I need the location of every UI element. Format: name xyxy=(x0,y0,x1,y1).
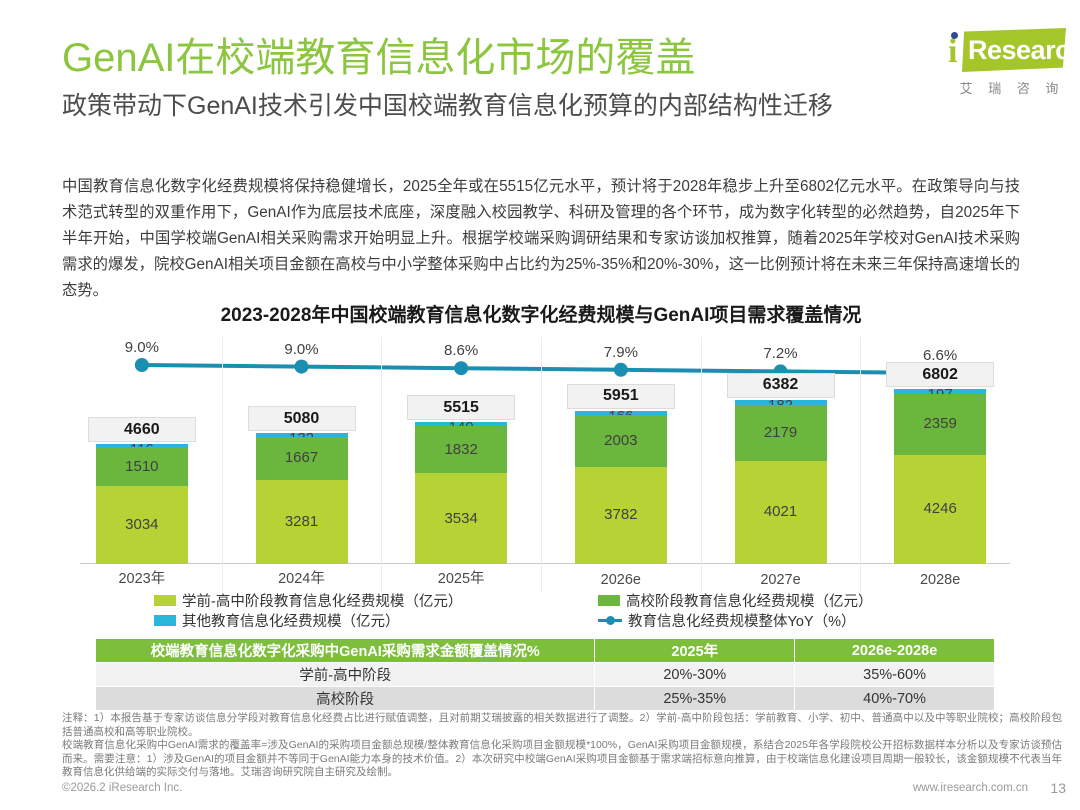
table-cell: 25%-35% xyxy=(595,687,795,711)
table-row: 高校阶段 25%-35% 40%-70% xyxy=(96,687,995,711)
chart-segment-value: 4246 xyxy=(894,500,986,517)
chart-total-label: 6802 xyxy=(886,362,994,387)
legend-swatch-icon xyxy=(598,595,620,606)
legend-item[interactable]: 学前-高中阶段教育信息化经费规模（亿元） xyxy=(154,590,462,611)
chart-segment-value: 4021 xyxy=(735,503,827,520)
chart-bar-group[interactable]: 16620033782 xyxy=(575,411,667,564)
chart-bar-segment[interactable]: 3782 xyxy=(575,467,667,564)
chart-bar-segment[interactable]: 1832 xyxy=(415,426,507,473)
table-cell: 35%-60% xyxy=(795,663,995,687)
chart-x-label: 2024年 xyxy=(242,567,362,588)
coverage-table: 校端教育信息化数字化采购中GenAI采购需求金额覆盖情况% 2025年 2026… xyxy=(95,638,995,711)
footer-url: www.iresearch.com.cn xyxy=(913,782,1028,794)
chart-bar-group[interactable]: 19723594246 xyxy=(894,389,986,564)
chart-total-label: 6382 xyxy=(727,373,835,398)
page-subtitle: 政策带动下GenAI技术引发中国校端教育信息化预算的内部结构性迁移 xyxy=(62,90,1022,122)
legend-line-icon xyxy=(598,615,622,626)
legend-label: 高校阶段教育信息化经费规模（亿元） xyxy=(626,590,873,611)
page-header: GenAI在校端教育信息化市场的覆盖 政策带动下GenAI技术引发中国校端教育信… xyxy=(62,34,1022,122)
chart-axis-line xyxy=(80,563,1010,564)
logo-letter-i: i xyxy=(948,35,957,69)
chart-segment-value: 1667 xyxy=(256,449,348,466)
chart-bar-segment[interactable]: 3281 xyxy=(256,480,348,564)
chart-yoy-label: 9.0% xyxy=(267,341,337,358)
chart-bar-segment[interactable]: 3034 xyxy=(96,486,188,564)
chart-x-label: 2028e xyxy=(880,572,1000,588)
chart-gridline xyxy=(860,337,861,592)
chart-yoy-label: 9.0% xyxy=(107,339,177,356)
chart-gridline xyxy=(222,337,223,592)
footer-page-number: 13 xyxy=(1050,780,1066,796)
table-header-cell: 2026e-2028e xyxy=(795,639,995,663)
chart-yoy-label: 6.6% xyxy=(905,347,975,364)
chart-yoy-label: 8.6% xyxy=(426,342,496,359)
chart-yoy-label: 7.2% xyxy=(746,345,816,362)
footnote-line: 校端教育信息化采购中GenAI需求的覆盖率=涉及GenAI的采购项目金额总规模/… xyxy=(62,739,1062,780)
chart-plot-area: 1161510303446602023年1321667328150802024年… xyxy=(62,337,1020,592)
footnotes: 注释：1）本报告基于专家访谈信息分学段对教育信息化经费占比进行赋值调整，且对前期… xyxy=(62,712,1062,780)
chart-total-label: 5080 xyxy=(248,406,356,431)
chart-bar-group[interactable]: 13216673281 xyxy=(256,433,348,564)
chart-container: 2023-2028年中国校端教育信息化数字化经费规模与GenAI项目需求覆盖情况… xyxy=(62,300,1020,630)
chart-bar-group[interactable]: 14918323534 xyxy=(415,422,507,564)
chart-bar-segment[interactable]: 1510 xyxy=(96,447,188,486)
chart-bar-segment[interactable]: 4021 xyxy=(735,461,827,564)
table-cell: 高校阶段 xyxy=(96,687,595,711)
chart-total-label: 5515 xyxy=(407,395,515,420)
table-header-cell: 校端教育信息化数字化采购中GenAI采购需求金额覆盖情况% xyxy=(96,639,595,663)
chart-segment-value: 3782 xyxy=(575,506,667,523)
chart-gridline xyxy=(381,337,382,592)
chart-bar-segment[interactable]: 4246 xyxy=(894,455,986,564)
logo-chinese-name: 艾 瑞 咨 询 xyxy=(958,78,1066,97)
table-header-cell: 2025年 xyxy=(595,639,795,663)
footnote-line: 注释：1）本报告基于专家访谈信息分学段对教育信息化经费占比进行赋值调整，且对前期… xyxy=(62,712,1062,739)
chart-bar-group[interactable]: 18221794021 xyxy=(735,400,827,564)
body-paragraph: 中国教育信息化数字化经费规模将保持稳健增长，2025全年或在5515亿元水平，预… xyxy=(62,174,1020,304)
page-title: GenAI在校端教育信息化市场的覆盖 xyxy=(62,34,1022,82)
chart-gridline xyxy=(541,337,542,592)
chart-segment-value: 2003 xyxy=(575,432,667,449)
chart-total-label: 4660 xyxy=(88,417,196,442)
logo-dot-icon xyxy=(951,32,958,39)
footer-copyright: ©2026.2 iResearch Inc. xyxy=(62,782,182,794)
chart-segment-value: 1510 xyxy=(96,458,188,475)
legend-item[interactable]: 高校阶段教育信息化经费规模（亿元） xyxy=(598,590,873,611)
chart-segment-value: 2359 xyxy=(894,415,986,432)
chart-bar-segment[interactable]: 2359 xyxy=(894,394,986,455)
table-row: 学前-高中阶段 20%-30% 35%-60% xyxy=(96,663,995,687)
legend-label: 教育信息化经费规模整体YoY（%） xyxy=(628,610,855,631)
table-cell: 20%-30% xyxy=(595,663,795,687)
chart-x-label: 2023年 xyxy=(82,567,202,588)
chart-bar-group[interactable]: 11615103034 xyxy=(96,444,188,564)
legend-item[interactable]: 其他教育信息化经费规模（亿元） xyxy=(154,610,400,631)
chart-x-label: 2026e xyxy=(561,572,681,588)
logo-wordmark: Research xyxy=(968,34,1064,66)
table-cell: 学前-高中阶段 xyxy=(96,663,595,687)
page-footer: ©2026.2 iResearch Inc. www.iresearch.com… xyxy=(62,782,1066,798)
legend-label: 其他教育信息化经费规模（亿元） xyxy=(182,610,400,631)
chart-x-label: 2027e xyxy=(721,572,841,588)
legend-item[interactable]: 教育信息化经费规模整体YoY（%） xyxy=(598,610,855,631)
chart-bar-segment[interactable]: 3534 xyxy=(415,473,507,564)
chart-title: 2023-2028年中国校端教育信息化数字化经费规模与GenAI项目需求覆盖情况 xyxy=(62,300,1020,327)
chart-segment-value: 3534 xyxy=(415,510,507,527)
chart-segment-value: 2179 xyxy=(735,424,827,441)
table-cell: 40%-70% xyxy=(795,687,995,711)
legend-swatch-icon xyxy=(154,595,176,606)
legend-label: 学前-高中阶段教育信息化经费规模（亿元） xyxy=(182,590,462,611)
chart-bar-segment[interactable]: 2179 xyxy=(735,405,827,461)
chart-segment-value: 3281 xyxy=(256,513,348,530)
chart-total-label: 5951 xyxy=(567,384,675,409)
chart-segment-value: 3034 xyxy=(96,516,188,533)
legend-swatch-icon xyxy=(154,615,176,626)
chart-bar-segment[interactable]: 2003 xyxy=(575,415,667,467)
chart-legend: 学前-高中阶段教育信息化经费规模（亿元）高校阶段教育信息化经费规模（亿元）其他教… xyxy=(62,588,1020,630)
chart-yoy-label: 7.9% xyxy=(586,344,656,361)
table-header-row: 校端教育信息化数字化采购中GenAI采购需求金额覆盖情况% 2025年 2026… xyxy=(96,639,995,663)
chart-x-label: 2025年 xyxy=(401,567,521,588)
chart-segment-value: 1832 xyxy=(415,441,507,458)
iresearch-logo: i Research 艾 瑞 咨 询 xyxy=(942,26,1066,104)
chart-gridline xyxy=(701,337,702,592)
slide-page: GenAI在校端教育信息化市场的覆盖 政策带动下GenAI技术引发中国校端教育信… xyxy=(0,0,1080,810)
chart-bar-segment[interactable]: 1667 xyxy=(256,437,348,480)
